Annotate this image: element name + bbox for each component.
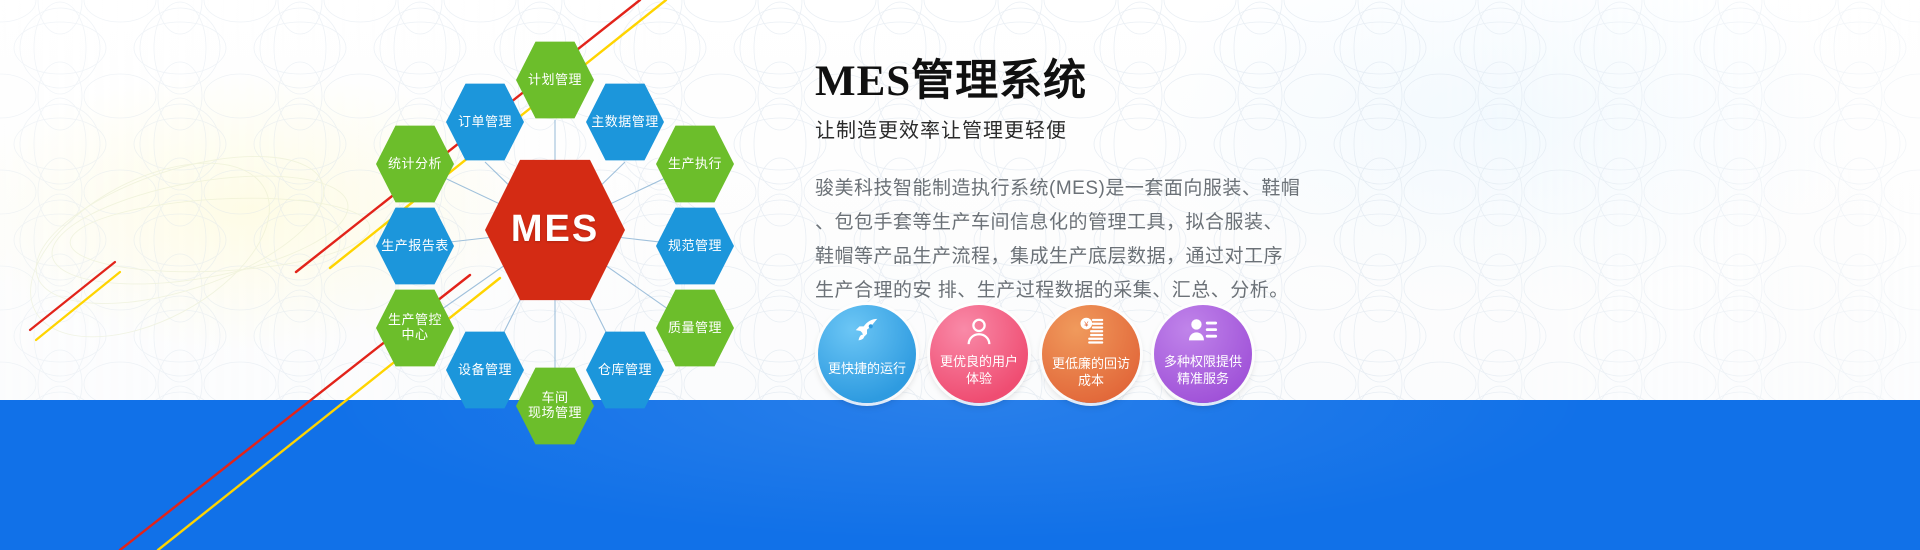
feature-badge-label: 精准服务 [1158,370,1248,387]
feature-badge-2[interactable]: 更优良的用户体验 [930,305,1028,403]
hero-description: 骏美科技智能制造执行系统(MES)是一套面向服装、鞋帽、包包手套等生产车间信息化… [815,172,1285,308]
mes-hexagon-diagram: MES 计划管理主数据管理生产执行规范管理质量管理仓库管理车间现场管理设备管理生… [330,20,780,440]
hero-banner: MES 计划管理主数据管理生产执行规范管理质量管理仓库管理车间现场管理设备管理生… [0,0,1920,550]
diagram-node-label: 设备管理 [454,363,516,378]
diagram-node-label: 仓库管理 [594,363,656,378]
id-card-icon [1188,316,1218,346]
feature-badge-label: 体验 [934,370,1024,387]
background-bottom-band [0,400,1920,550]
feature-badge-label: 更优良的用户 [934,353,1024,370]
description-line: 、包包手套等生产车间信息化的管理工具，拟合服装、 [815,206,1285,240]
diagram-node-label: 车间现场管理 [524,391,586,421]
diagram-node-label: 计划管理 [524,73,586,88]
title-divider [815,153,1235,154]
diagram-node-label: 规范管理 [664,239,726,254]
feature-badge-label: 更低廉的回访 [1046,355,1136,372]
diagram-node-label: 质量管理 [664,321,726,336]
hero-text-block: MES管理系统 让制造更效率让管理更轻便 骏美科技智能制造执行系统(MES)是一… [815,58,1815,308]
feature-badge-list: 更快捷的运行更优良的用户体验¥更低廉的回访成本多种权限提供精准服务 [818,305,1252,403]
diagram-node-label: 统计分析 [384,157,446,172]
feature-badge-label: 成本 [1046,372,1136,389]
diagram-center-label: MES [507,208,603,252]
diagram-node-label: 主数据管理 [587,115,663,130]
diagram-node-label: 生产管控中心 [384,313,446,343]
description-line: 生产合理的安 排、生产过程数据的采集、汇总、分析。 [815,274,1285,308]
feature-badge-3[interactable]: ¥更低廉的回访成本 [1042,305,1140,403]
rocket-icon [852,316,882,346]
description-line: 骏美科技智能制造执行系统(MES)是一套面向服装、鞋帽 [815,172,1285,206]
diagram-node-label: 生产报告表 [377,239,453,254]
coins-icon: ¥ [1076,316,1106,346]
feature-badge-1[interactable]: 更快捷的运行 [818,305,916,403]
feature-badge-label: 更快捷的运行 [822,360,912,377]
page-title: MES管理系统 [815,58,1815,106]
page-subtitle: 让制造更效率让管理更轻便 [815,114,1815,143]
diagram-node-label: 订单管理 [454,115,516,130]
feature-badge-label: 多种权限提供 [1158,353,1248,370]
description-line: 鞋帽等产品生产流程，集成生产底层数据，通过对工序 [815,240,1285,274]
feature-badge-4[interactable]: 多种权限提供精准服务 [1154,305,1252,403]
diagram-node-label: 生产执行 [664,157,726,172]
user-icon [964,316,994,346]
